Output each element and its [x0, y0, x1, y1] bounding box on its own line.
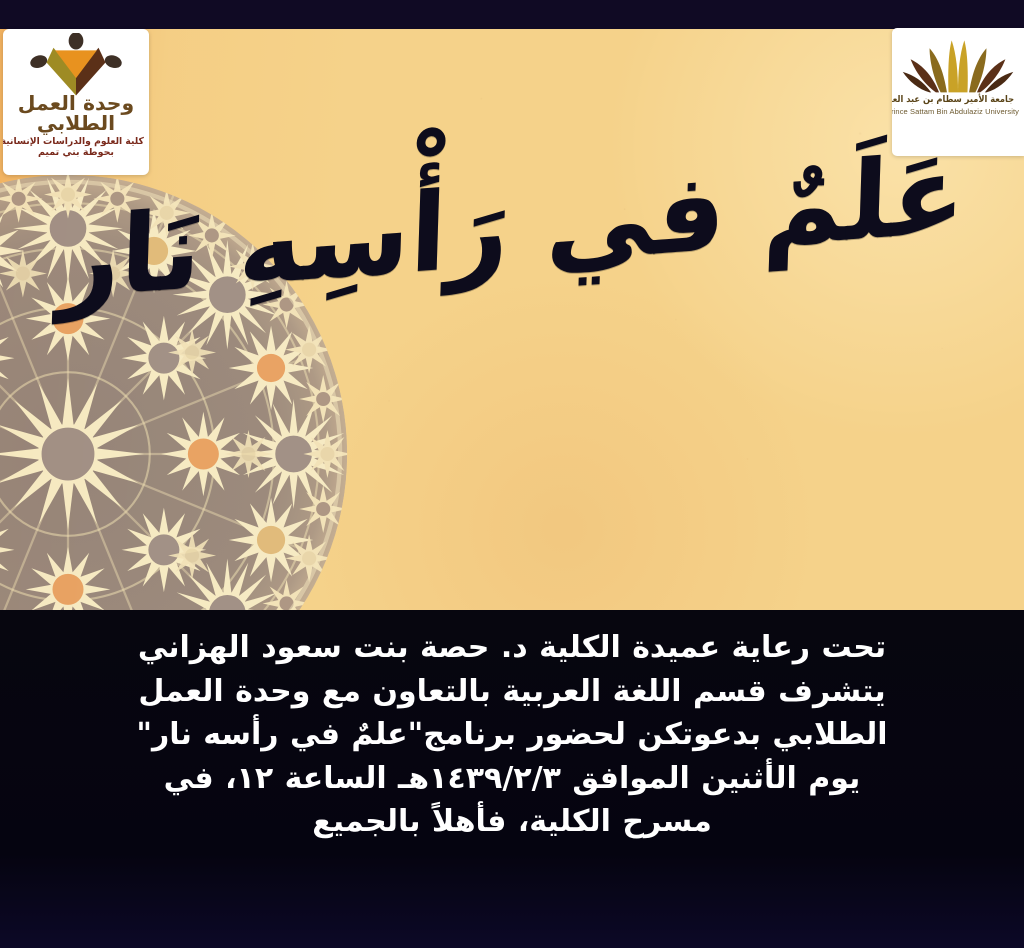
- event-poster: عَلَمٌ في رَأْسِهِ نَار وحدة العمل الطلا…: [0, 0, 1024, 948]
- university-name-english: Prince Sattam Bin Abdulaziz University: [897, 107, 1019, 116]
- unit-name-arabic: وحدة العمل الطلابي: [5, 93, 148, 133]
- top-dark-strip: [0, 0, 1024, 29]
- announcement-line-3: الطلابي بدعوتكن لحضور برنامج"علمٌ في رأس…: [22, 713, 1002, 757]
- three-figures-icon: [24, 33, 128, 99]
- open-book-icon: [902, 34, 1014, 94]
- prince-sattam-university-logo: جامعة الأمير سطام بن عبد العزيز Prince S…: [892, 28, 1024, 156]
- announcement-line-5: مسرح الكلية، فأهلاً بالجميع: [22, 800, 1002, 844]
- university-name-arabic: جامعة الأمير سطام بن عبد العزيز: [902, 96, 1014, 106]
- announcement-line-4: يوم الأثنين الموافق ١٤٣٩/٢/٣هـ الساعة ١٢…: [22, 757, 1002, 801]
- college-name-line-1: كلية العلوم والدراسات الإنسانية: [8, 136, 144, 147]
- announcement-panel: تحت رعاية عميدة الكلية د. حصة بنت سعود ا…: [0, 610, 1024, 948]
- announcement-line-2: يتشرف قسم اللغة العربية بالتعاون مع وحدة…: [22, 670, 1002, 714]
- poster-title-container: عَلَمٌ في رَأْسِهِ نَار: [0, 150, 1024, 307]
- student-work-unit-logo: وحدة العمل الطلابي كلية العلوم والدراسات…: [3, 29, 149, 175]
- college-name-line-2: بحوطة بني تميم: [6, 147, 146, 158]
- announcement-line-1: تحت رعاية عميدة الكلية د. حصة بنت سعود ا…: [22, 626, 1002, 670]
